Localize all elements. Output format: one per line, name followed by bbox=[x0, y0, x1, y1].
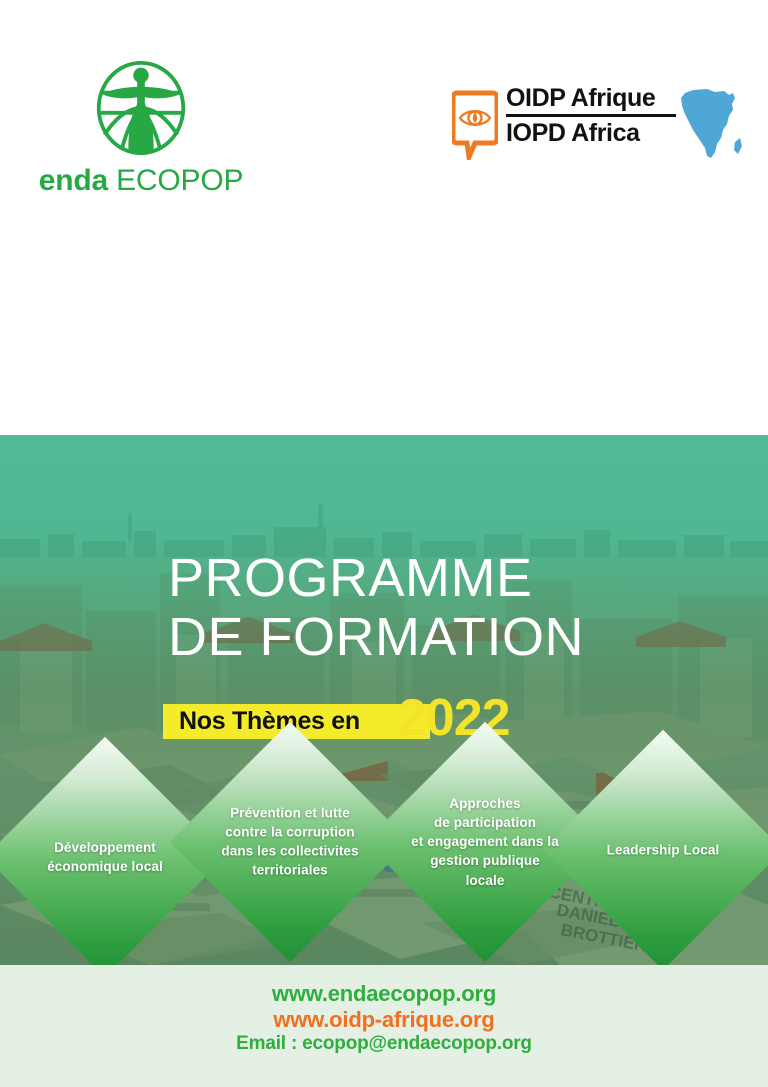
page-footer: www.endaecopop.org www.oidp-afrique.org … bbox=[0, 965, 768, 1087]
email-link[interactable]: Email : ecopop@endaecopop.org bbox=[0, 1033, 768, 1055]
headline-line-1: PROGRAMME bbox=[168, 551, 598, 606]
enda-circle-figure-mark bbox=[93, 58, 189, 158]
hero-headline: PROGRAMME DE FORMATION bbox=[168, 551, 598, 665]
headline-line-2: DE FORMATION bbox=[168, 610, 598, 665]
enda-word-bold: enda bbox=[39, 164, 108, 197]
page-header: enda ECOPOP OIDP Afrique IOPD Africa bbox=[0, 0, 768, 435]
website-oidp-link[interactable]: www.oidp-afrique.org bbox=[0, 1007, 768, 1033]
africa-map-icon bbox=[677, 86, 747, 174]
enda-word-light: ECOPOP bbox=[116, 164, 243, 197]
oidp-line-africa: IOPD Africa bbox=[506, 117, 676, 146]
themes-diamond-row: Développementéconomique local Prévention… bbox=[0, 735, 768, 965]
oidp-line-afrique: OIDP Afrique bbox=[506, 86, 676, 117]
oidp-afrique-logo: OIDP Afrique IOPD Africa bbox=[452, 86, 742, 181]
enda-wordmark: enda ECOPOP bbox=[36, 166, 246, 196]
website-enda-link[interactable]: www.endaecopop.org bbox=[0, 981, 768, 1007]
hero-banner: CENTRE DANIEL BROTTIER CUL EL PROGRAMME … bbox=[0, 435, 768, 965]
subtitle-row: Nos Thèmes en 2022 bbox=[163, 703, 510, 739]
oidp-wordmark: OIDP Afrique IOPD Africa bbox=[506, 86, 676, 146]
enda-ecopop-logo: enda ECOPOP bbox=[36, 58, 246, 196]
theme-diamond-3[interactable] bbox=[543, 730, 768, 965]
speech-bubble-eye-icon bbox=[452, 90, 498, 160]
